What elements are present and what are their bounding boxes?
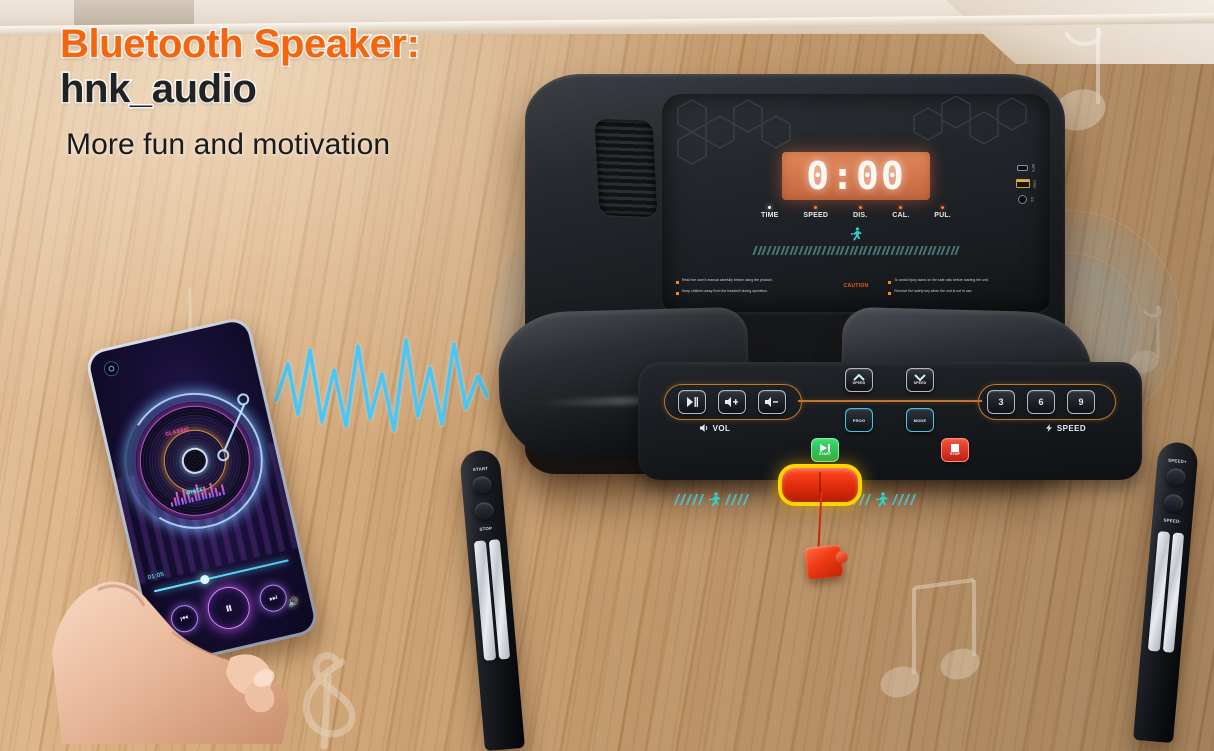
- control-button-deck: VOL SPEED SPEED PROG: [638, 362, 1142, 480]
- aux-port-row[interactable]: MP3: [1017, 164, 1035, 172]
- dc-power-port-icon[interactable]: [1018, 195, 1027, 204]
- headline-block: Bluetooth Speaker: hnk_audio More fun an…: [60, 22, 580, 162]
- metric-pulse: PUL.: [934, 206, 951, 219]
- runner-icon: [708, 492, 721, 507]
- metric-labels-row: TIME SPEED DIS. CAL.: [761, 206, 951, 219]
- headline-line-2: hnk_audio: [60, 67, 580, 112]
- metric-label: SPEED: [803, 212, 828, 219]
- speed-preset-6-button[interactable]: 6: [1027, 390, 1055, 414]
- led-display-panel: 0:00: [782, 152, 930, 200]
- speed-text: SPEED: [1057, 424, 1086, 433]
- preset-label: 6: [1038, 397, 1043, 407]
- prog-label: PROG: [853, 418, 866, 423]
- metric-label: CAL.: [892, 212, 909, 219]
- stop-button[interactable]: STOP: [941, 438, 969, 462]
- btn-stack: SPEED: [914, 374, 927, 386]
- metric-speed: SPEED: [803, 206, 828, 219]
- warnings-left-column: Read the user's manual carefully before …: [676, 278, 824, 295]
- speed-up-label: SPEED: [853, 382, 866, 386]
- usb-port-row[interactable]: USB: [1016, 179, 1037, 188]
- bullet-icon: [888, 292, 891, 295]
- metric-label: TIME: [761, 212, 779, 219]
- led-digits: 0:00: [806, 157, 906, 195]
- runner-icon: [850, 227, 862, 241]
- metric-time: TIME: [761, 206, 779, 219]
- speed-down-label: SPEED: [914, 382, 927, 386]
- start-label: START: [819, 453, 831, 457]
- headline-subtitle: More fun and motivation: [66, 128, 580, 162]
- volume-up-button[interactable]: [718, 390, 746, 414]
- warning-text: Remove the safety key when the unit is n…: [894, 289, 972, 293]
- rail-bottom-label: SPEED-: [1163, 518, 1181, 525]
- volume-group-label: VOL: [700, 424, 730, 433]
- port-label: MP3: [1031, 164, 1035, 172]
- warning-item: Remove the safety key when the unit is n…: [888, 289, 1036, 295]
- warning-item: Keep children away from the treadmill du…: [676, 289, 824, 295]
- port-label: USB: [1033, 180, 1037, 188]
- warning-text: Read the user's manual carefully before …: [682, 278, 773, 282]
- smartphone-in-hand: CLASSIC WHITE 01:05 ♥ 🔊 ⏮ ⏸ ⏭: [52, 324, 312, 744]
- metric-label: DIS.: [853, 212, 867, 219]
- play-pause-button[interactable]: [678, 390, 706, 414]
- preset-label: 9: [1078, 397, 1083, 407]
- volume-down-button[interactable]: [758, 390, 786, 414]
- io-port-cluster: MP3 USB DC: [1008, 164, 1044, 204]
- caution-heading: CAUTION: [844, 283, 869, 289]
- treadmill-console-assembly: 0:00 TIME SPEED DIS.: [430, 60, 1210, 751]
- preset-label: 3: [998, 397, 1003, 407]
- indicator-dot: [941, 206, 944, 209]
- mode-label: MODE: [914, 418, 927, 423]
- right-handrail: SPEED+ SPEED-: [1133, 441, 1199, 743]
- indicator-dot: [859, 206, 862, 209]
- left-speaker-grille: [595, 119, 658, 217]
- runner-icon: [875, 492, 888, 507]
- hand-holding-phone: [52, 444, 312, 744]
- aux-port-icon[interactable]: [1017, 165, 1028, 171]
- vol-text: VOL: [713, 424, 731, 433]
- indicator-dot: [814, 206, 817, 209]
- decorative-tick-row: [680, 244, 1032, 256]
- warnings-right-column: To avoid injury stand on the side rails …: [888, 278, 1036, 295]
- rail-bottom-label: STOP: [479, 526, 492, 532]
- speed-up-button[interactable]: SPEED: [845, 368, 873, 392]
- speed-group-label: SPEED: [1045, 424, 1086, 433]
- left-handrail: START STOP: [459, 449, 525, 751]
- warning-item: To avoid injury stand on the side rails …: [888, 278, 1036, 284]
- btn-stack: START: [819, 444, 831, 457]
- rail-top-label: START: [473, 466, 489, 472]
- front-camera-icon: [102, 360, 120, 378]
- port-label: DC: [1030, 197, 1034, 203]
- mode-button[interactable]: MODE: [906, 408, 934, 432]
- prog-button[interactable]: PROG: [845, 408, 873, 432]
- console-shell: 0:00 TIME SPEED DIS.: [525, 74, 1065, 474]
- speed-preset-3-button[interactable]: 3: [987, 390, 1015, 414]
- bullet-icon: [676, 292, 679, 295]
- group-connector-line: [798, 400, 982, 402]
- indicator-dot: [768, 206, 771, 209]
- product-marketing-image: CLASSIC WHITE 01:05 ♥ 🔊 ⏮ ⏸ ⏭: [0, 0, 1214, 751]
- speed-down-button[interactable]: SPEED: [906, 368, 934, 392]
- safety-key-clip[interactable]: [804, 544, 843, 580]
- btn-stack: STOP: [950, 444, 960, 457]
- stop-label: STOP: [950, 453, 960, 457]
- usb-port-icon[interactable]: [1016, 179, 1030, 188]
- right-pulse-sensor-pads[interactable]: [1148, 531, 1184, 653]
- dc-port-row[interactable]: DC: [1018, 195, 1034, 204]
- indicator-dot: [899, 206, 902, 209]
- warning-text: To avoid injury stand on the side rails …: [894, 278, 988, 282]
- bullet-icon: [888, 281, 891, 284]
- start-button[interactable]: START: [811, 438, 839, 462]
- bullet-icon: [676, 281, 679, 284]
- rail-speed-up-button[interactable]: [1166, 468, 1186, 487]
- headline-line-1: Bluetooth Speaker:: [60, 22, 580, 67]
- speed-preset-9-button[interactable]: 9: [1067, 390, 1095, 414]
- metric-calories: CAL.: [892, 206, 909, 219]
- metric-label: PUL.: [934, 212, 951, 219]
- metric-distance: DIS.: [853, 206, 867, 219]
- runner-group-left: [676, 492, 747, 507]
- left-pulse-sensor-pads[interactable]: [474, 539, 510, 661]
- rail-speed-down-button[interactable]: [1164, 494, 1184, 513]
- warning-text: Keep children away from the treadmill du…: [682, 289, 768, 293]
- warning-item: Read the user's manual carefully before …: [676, 278, 824, 284]
- btn-stack: SPEED: [853, 374, 866, 386]
- rail-start-button[interactable]: [472, 476, 492, 495]
- console-display-face: 0:00 TIME SPEED DIS.: [662, 94, 1050, 312]
- caution-label-strip: Read the user's manual carefully before …: [670, 267, 1042, 305]
- rail-stop-button[interactable]: [474, 502, 494, 521]
- rail-top-label: SPEED+: [1168, 458, 1187, 465]
